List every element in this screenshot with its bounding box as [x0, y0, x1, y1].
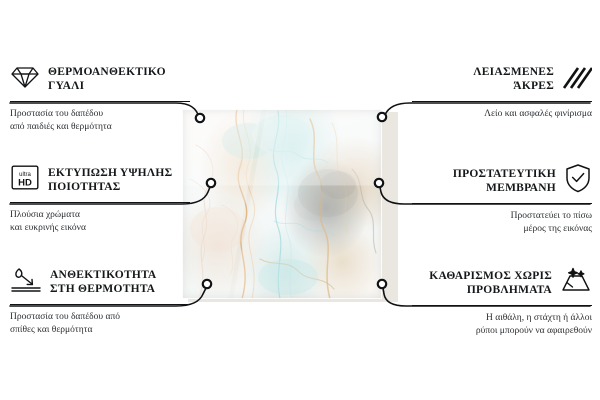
diamond-icon	[10, 64, 40, 95]
feature-header: ΛΕΙΑΣΜΕΝΕΣ ΆΚΡΕΣ	[412, 62, 592, 96]
feature-description: Προστασία του δαπέδου από σπίθες και θερ…	[10, 311, 190, 336]
feature-divider	[10, 101, 190, 102]
feature-header: ΠΡΟΣΤΑΤΕΥΤΙΚΗ ΜΕΜΒΡΑΝΗ	[412, 163, 592, 198]
feature-title: ΘΕΡΜΟΑΝΘΕΚΤΙΚΟ ΓΥΑΛΙ	[48, 65, 166, 93]
feature-smooth-edges[interactable]: ΛΕΙΑΣΜΕΝΕΣ ΆΚΡΕΣ Λείο και ασφαλές φινίρι…	[412, 62, 592, 121]
flame-deflect-icon	[10, 266, 42, 299]
feature-header: ΘΕΡΜΟΑΝΘΕΚΤΙΚΟ ΓΥΑΛΙ	[10, 62, 190, 96]
feature-header: ultra HD ΕΚΤΥΠΩΣΗ ΥΨΗΛΗΣ ΠΟΙΟΤΗΤΑΣ	[10, 163, 190, 197]
product-image[interactable]	[182, 109, 382, 299]
feature-title: ΕΚΤΥΠΩΣΗ ΥΨΗΛΗΣ ΠΟΙΟΤΗΤΑΣ	[48, 166, 172, 194]
feature-divider	[412, 305, 592, 306]
feature-divider	[10, 202, 190, 203]
marble-veins	[182, 109, 382, 299]
feature-title: ΚΑΘΑΡΙΣΜΟΣ ΧΩΡΙΣ ΠΡΟΒΛΗΜΑΤΑ	[429, 269, 552, 297]
feature-description: Προστασία του δαπέδου από παιδιές και θε…	[10, 108, 190, 133]
feature-title: ΑΝΘΕΚΤΙΚΟΤΗΤΑ ΣΤΗ ΘΕΡΜΟΤΗΤΑ	[50, 268, 156, 296]
feature-description: Λείο και ασφαλές φινίρισμα	[412, 108, 592, 121]
product-image-frame[interactable]	[182, 109, 382, 299]
infographic-stage: ΘΕΡΜΟΑΝΘΕΚΤΙΚΟ ΓΥΑΛΙ Προστασία του δαπέδ…	[0, 0, 600, 400]
feature-protective-membrane[interactable]: ΠΡΟΣΤΑΤΕΥΤΙΚΗ ΜΕΜΒΡΑΝΗ Προστατεύει το πί…	[412, 163, 592, 235]
feature-header: ΑΝΘΕΚΤΙΚΟΤΗΤΑ ΣΤΗ ΘΕΡΜΟΤΗΤΑ	[10, 265, 190, 299]
feature-easy-cleaning[interactable]: ΚΑΘΑΡΙΣΜΟΣ ΧΩΡΙΣ ΠΡΟΒΛΗΜΑΤΑ Η αιθάλη, η …	[412, 265, 592, 337]
feature-divider	[412, 101, 592, 102]
feature-description: Η αιθάλη, η στάχτη ή άλλοι ρύποι μπορούν…	[412, 312, 592, 337]
feature-title: ΠΡΟΣΤΑΤΕΥΤΙΚΗ ΜΕΜΒΡΑΝΗ	[453, 167, 556, 195]
feature-heat-durability[interactable]: ΑΝΘΕΚΤΙΚΟΤΗΤΑ ΣΤΗ ΘΕΡΜΟΤΗΤΑ Προστασία το…	[10, 265, 190, 336]
shield-check-icon	[564, 163, 592, 198]
feature-title: ΛΕΙΑΣΜΕΝΕΣ ΆΚΡΕΣ	[473, 65, 554, 93]
diagonal-stripes-icon	[562, 64, 592, 95]
sparkle-clean-icon	[560, 265, 592, 300]
ultra-hd-icon: ultra HD	[10, 164, 40, 196]
feature-description: Προστατεύει το πίσω μέρος της εικόνας	[412, 210, 592, 235]
feature-high-quality-print[interactable]: ultra HD ΕΚΤΥΠΩΣΗ ΥΨΗΛΗΣ ΠΟΙΟΤΗΤΑΣ Πλούσ…	[10, 163, 190, 234]
feature-heat-resistant-glass[interactable]: ΘΕΡΜΟΑΝΘΕΚΤΙΚΟ ΓΥΑΛΙ Προστασία του δαπέδ…	[10, 62, 190, 133]
ultra-hd-bottom-label: HD	[18, 177, 32, 188]
feature-divider	[412, 203, 592, 204]
feature-header: ΚΑΘΑΡΙΣΜΟΣ ΧΩΡΙΣ ΠΡΟΒΛΗΜΑΤΑ	[412, 265, 592, 300]
feature-divider	[10, 304, 190, 305]
feature-description: Πλούσια χρώματα και ευκρινής εικόνα	[10, 209, 190, 234]
